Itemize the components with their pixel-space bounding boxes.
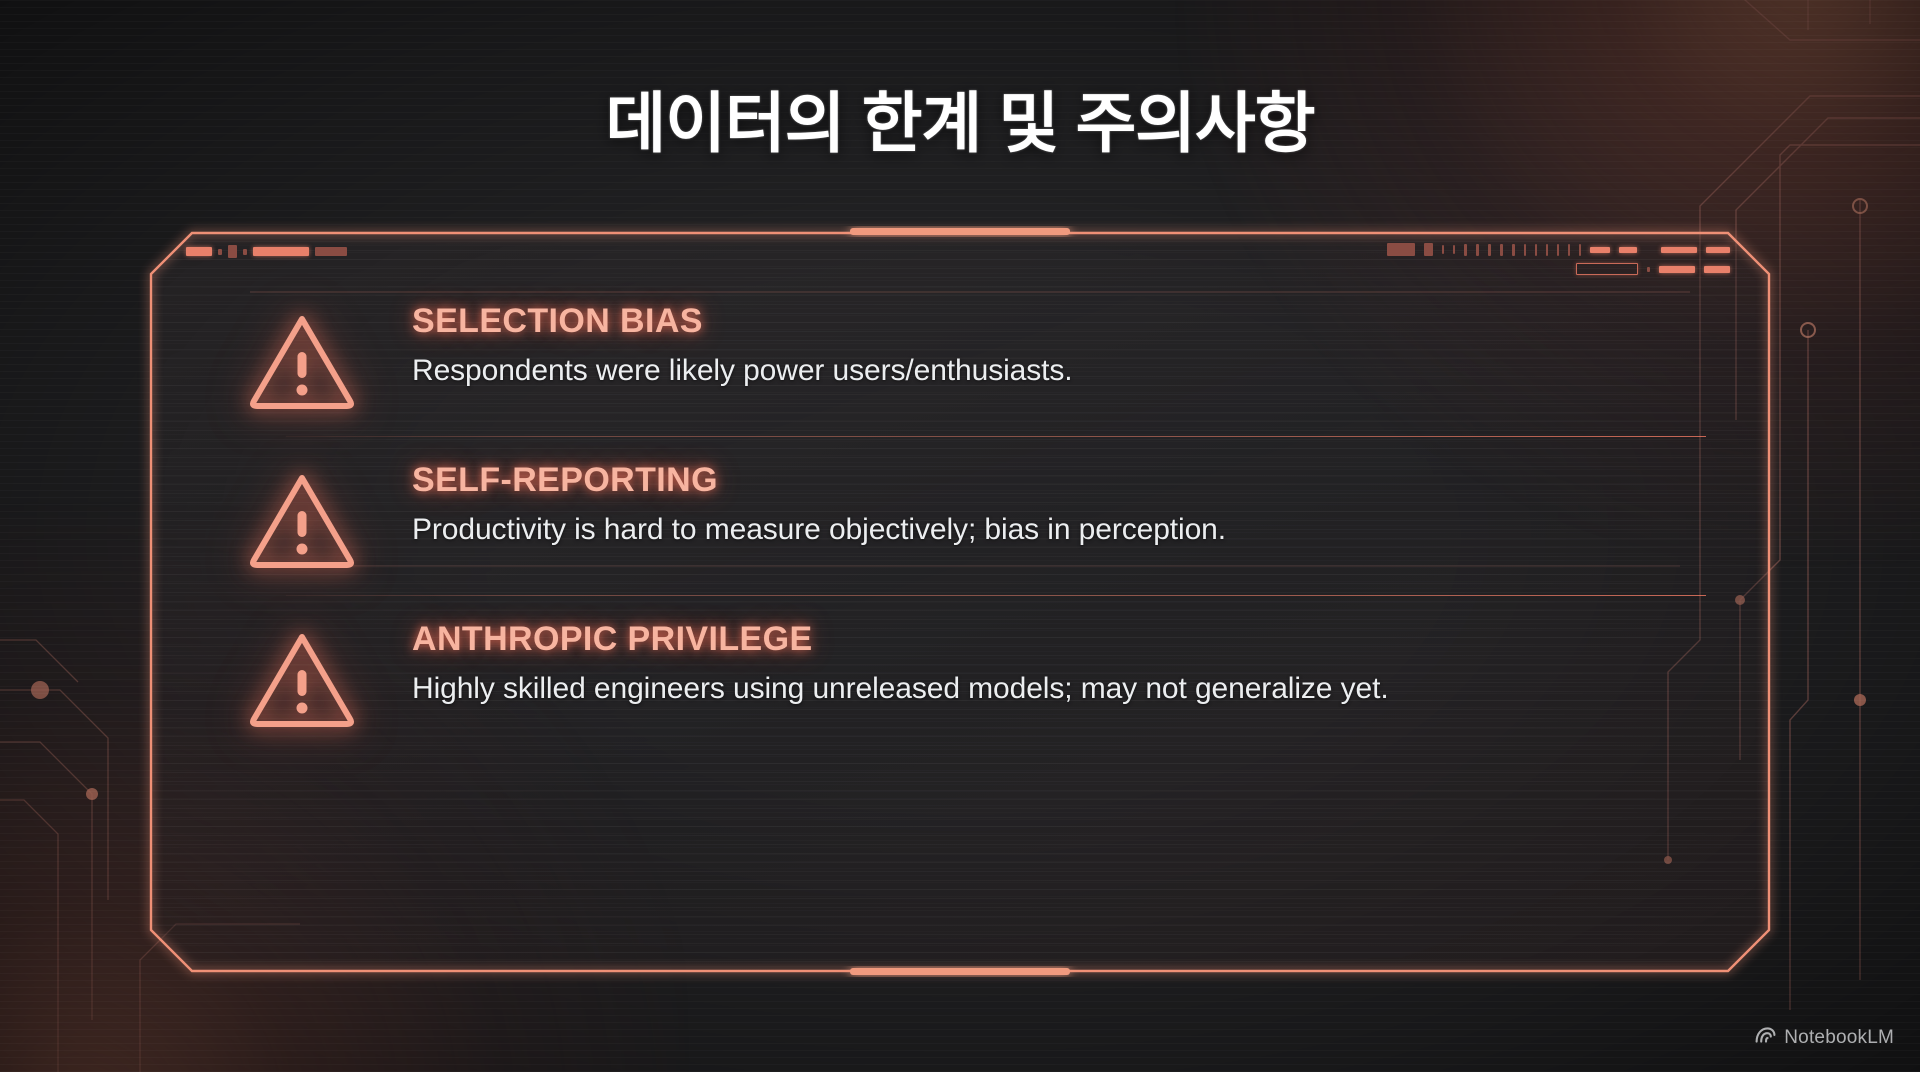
warning-list: SELECTION BIAS Respondents were likely p… xyxy=(246,278,1710,754)
hud-tick xyxy=(1661,247,1697,253)
hud-tick xyxy=(218,249,222,255)
hud-tick xyxy=(1706,247,1730,253)
list-item-heading: SELECTION BIAS xyxy=(412,302,1710,341)
hud-tick xyxy=(1590,247,1610,253)
hud-tick xyxy=(1619,247,1637,253)
warning-triangle-icon xyxy=(246,459,366,569)
list-item-heading: ANTHROPIC PRIVILEGE xyxy=(412,620,1710,659)
hud-tick xyxy=(253,247,309,256)
warning-triangle-icon xyxy=(246,618,366,728)
hud-tick xyxy=(1576,263,1638,275)
list-item[interactable]: ANTHROPIC PRIVILEGE Highly skilled engin… xyxy=(246,596,1710,754)
list-item-body: Highly skilled engineers using unrelease… xyxy=(412,668,1512,709)
hud-ticks-right xyxy=(1387,243,1730,275)
slide-stage: 데이터의 한계 및 주의사항 xyxy=(0,0,1920,1072)
notebooklm-watermark: NotebookLM xyxy=(1755,1026,1894,1050)
page-title: 데이터의 한계 및 주의사항 xyxy=(0,70,1920,166)
hud-tick xyxy=(1659,266,1695,273)
notebooklm-label: NotebookLM xyxy=(1784,1027,1894,1049)
list-item-body: Respondents were likely power users/enth… xyxy=(412,350,1632,391)
hud-ticks-left xyxy=(186,245,347,258)
list-item-heading: SELF-REPORTING xyxy=(412,461,1710,500)
hud-panel: SELECTION BIAS Respondents were likely p… xyxy=(150,232,1770,972)
notebooklm-icon xyxy=(1755,1026,1776,1050)
hud-tick xyxy=(315,247,347,256)
hud-tick xyxy=(1704,266,1730,273)
list-item[interactable]: SELECTION BIAS Respondents were likely p… xyxy=(246,278,1710,436)
hud-tick xyxy=(228,245,237,258)
hud-tick xyxy=(186,247,212,256)
hud-tick xyxy=(1387,243,1415,256)
hud-tick xyxy=(243,249,247,255)
hud-tick xyxy=(1424,243,1433,256)
list-item-body: Productivity is hard to measure objectiv… xyxy=(412,509,1632,550)
warning-triangle-icon xyxy=(246,300,366,410)
list-item[interactable]: SELF-REPORTING Productivity is hard to m… xyxy=(246,437,1710,595)
